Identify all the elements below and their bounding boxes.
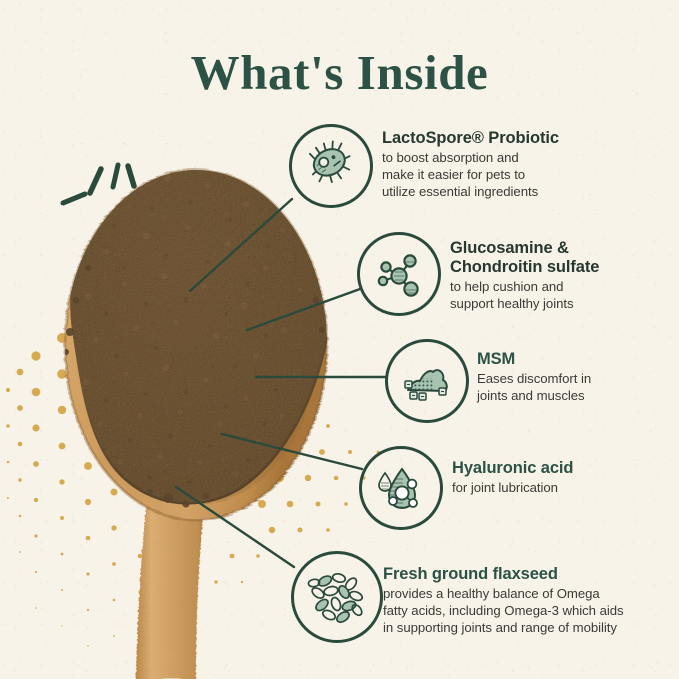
callout-msm-body: Eases discomfort in joints and muscles bbox=[477, 370, 677, 404]
callout-lactospore-body: to boost absorption and make it easier f… bbox=[382, 149, 612, 200]
callout-msm-bubble bbox=[385, 339, 469, 423]
decorative-dashes bbox=[63, 165, 134, 203]
callout-lactospore-text: LactoSpore® Probiotic to boost absorptio… bbox=[382, 129, 612, 201]
powder-mound-icon bbox=[398, 352, 456, 410]
callout-glucosamine-bubble bbox=[357, 232, 441, 316]
bacterium-icon bbox=[303, 138, 359, 194]
molecule-icon bbox=[371, 246, 427, 302]
infographic-canvas: What's Inside bbox=[0, 0, 679, 679]
page-title: What's Inside bbox=[0, 44, 679, 101]
callout-flaxseed-text: Fresh ground flaxseed provides a healthy… bbox=[383, 565, 663, 637]
callout-hyaluronic-text: Hyaluronic acid for joint lubrication bbox=[452, 459, 662, 496]
flaxseeds-icon bbox=[305, 565, 369, 629]
callout-hyaluronic-body: for joint lubrication bbox=[452, 479, 662, 496]
callout-hyaluronic-bubble bbox=[359, 446, 443, 530]
callout-glucosamine-text: Glucosamine & Chondroitin sulfate to hel… bbox=[450, 239, 665, 313]
callout-glucosamine-heading: Glucosamine & Chondroitin sulfate bbox=[450, 239, 665, 277]
callout-glucosamine-body: to help cushion and support healthy join… bbox=[450, 278, 665, 312]
callout-flaxseed-body: provides a healthy balance of Omega fatt… bbox=[383, 585, 663, 636]
callout-flaxseed-heading: Fresh ground flaxseed bbox=[383, 565, 663, 584]
callout-msm-text: MSM Eases discomfort in joints and muscl… bbox=[477, 350, 677, 404]
water-droplet-molecule-icon bbox=[372, 459, 430, 517]
callout-flaxseed-bubble bbox=[291, 551, 383, 643]
callout-msm-heading: MSM bbox=[477, 350, 677, 369]
callout-lactospore-bubble bbox=[289, 124, 373, 208]
callout-lactospore-heading: LactoSpore® Probiotic bbox=[382, 129, 612, 148]
callout-hyaluronic-heading: Hyaluronic acid bbox=[452, 459, 662, 478]
